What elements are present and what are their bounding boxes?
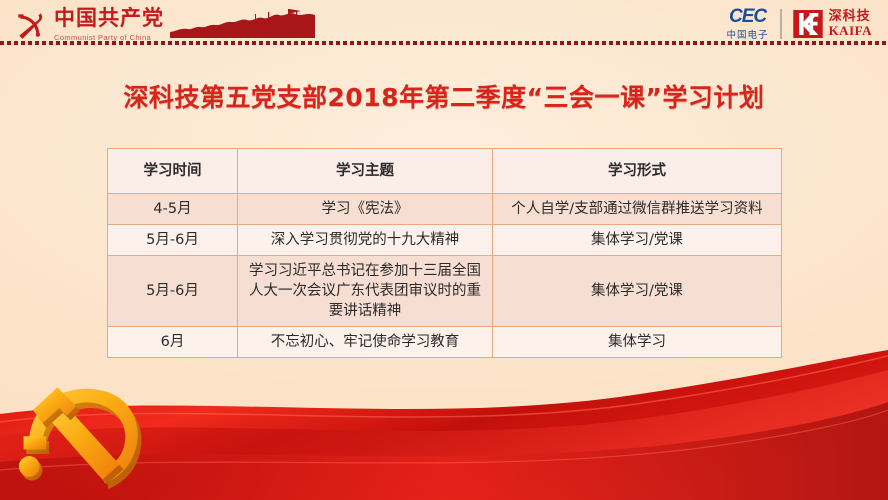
cpc-name-cn: 中国共产党: [54, 6, 164, 30]
logo-divider: [780, 9, 782, 39]
cell-form: 集体学习: [493, 327, 782, 358]
cell-form: 集体学习/党课: [493, 256, 782, 327]
study-plan-table: 学习时间 学习主题 学习形式 4-5月 学习《宪法》 个人自学/支部通过微信群推…: [107, 148, 781, 358]
cell-time: 6月: [108, 327, 238, 358]
cell-form: 集体学习/党课: [493, 225, 782, 256]
cell-topic: 深入学习贯彻党的十九大精神: [238, 225, 493, 256]
cell-form: 个人自学/支部通过微信群推送学习资料: [493, 194, 782, 225]
cell-topic: 学习《宪法》: [238, 194, 493, 225]
cec-logo-sub: 中国电子: [727, 27, 769, 41]
footer-decoration: [0, 350, 888, 500]
kf-monogram-icon: [793, 10, 823, 38]
table: 学习时间 学习主题 学习形式 4-5月 学习《宪法》 个人自学/支部通过微信群推…: [107, 148, 782, 358]
hammer-sickle-icon: [14, 8, 48, 42]
cec-logo-main: CEC: [729, 7, 766, 26]
column-header-time: 学习时间: [108, 149, 238, 194]
kaifa-logo-text: 深科技 KAIFA: [829, 10, 872, 38]
page-title: 深科技第五党支部2018年第二季度“三会一课”学习计划: [0, 78, 888, 114]
cell-topic: 不忘初心、牢记使命学习教育: [238, 327, 493, 358]
cell-time: 5月-6月: [108, 256, 238, 327]
brand-logos: CEC 中国电子 深科技 KAIFA: [727, 4, 872, 44]
revolutionary-crowd-illustration: [170, 8, 315, 38]
cec-logo: CEC 中国电子: [727, 7, 769, 41]
cell-time: 5月-6月: [108, 225, 238, 256]
cpc-logo: 中国共产党 Communist Party of China: [14, 6, 164, 42]
header-bar: 中国共产党 Communist Party of China: [0, 0, 888, 56]
cell-topic: 学习习近平总书记在参加十三届全国人大一次会议广东代表团审议时的重要讲话精神: [238, 256, 493, 327]
golden-hammer-sickle-emblem: [14, 378, 146, 500]
column-header-topic: 学习主题: [238, 149, 493, 194]
table-header-row: 学习时间 学习主题 学习形式: [108, 149, 782, 194]
table-row: 5月-6月 学习习近平总书记在参加十三届全国人大一次会议广东代表团审议时的重要讲…: [108, 256, 782, 327]
kaifa-name-cn: 深科技: [829, 10, 872, 24]
slide-canvas: 中国共产党 Communist Party of China: [0, 0, 888, 500]
kaifa-logo: 深科技 KAIFA: [793, 10, 872, 38]
table-row: 4-5月 学习《宪法》 个人自学/支部通过微信群推送学习资料: [108, 194, 782, 225]
cpc-logo-text: 中国共产党 Communist Party of China: [54, 6, 164, 42]
kaifa-name-en: KAIFA: [829, 24, 872, 38]
table-row: 5月-6月 深入学习贯彻党的十九大精神 集体学习/党课: [108, 225, 782, 256]
cell-time: 4-5月: [108, 194, 238, 225]
red-silk-wave: [0, 350, 888, 500]
column-header-form: 学习形式: [493, 149, 782, 194]
table-row: 6月 不忘初心、牢记使命学习教育 集体学习: [108, 327, 782, 358]
